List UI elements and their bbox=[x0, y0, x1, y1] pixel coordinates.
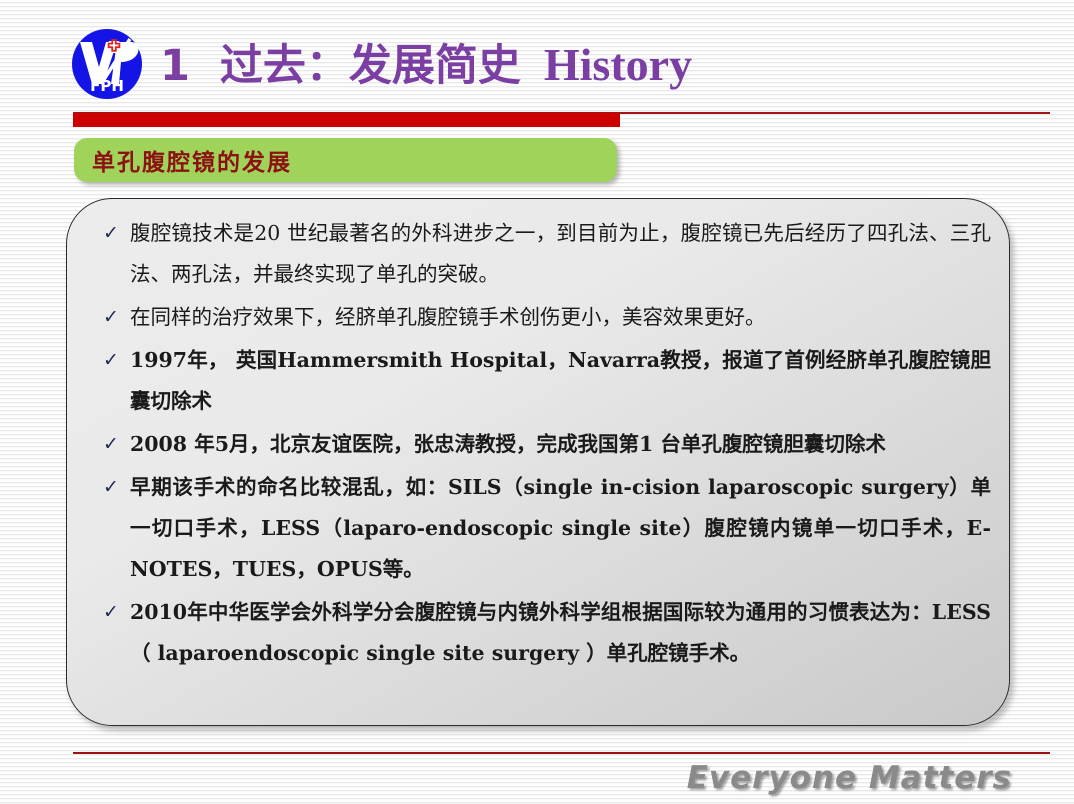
list-item: ✓ 腹腔镜技术是20 世纪最著名的外科进步之一，到目前为止，腹腔镜已先后经历了四… bbox=[100, 213, 991, 295]
list-item: ✓ 2010年中华医学会外科学分会腹腔镜与内镜外科学组根据国际较为通用的习惯表达… bbox=[100, 592, 991, 674]
check-icon: ✓ bbox=[100, 297, 130, 338]
check-icon: ✓ bbox=[100, 213, 130, 254]
list-item-text: 2008 年5月，北京友谊医院，张忠涛教授，完成我国第1 台单孔腹腔镜胆囊切除术 bbox=[130, 424, 991, 465]
slide-canvas: FPH 1 过去：发展简史 History 单孔腹腔镜的发展 ✓ 腹腔镜技术是2… bbox=[0, 0, 1074, 804]
list-item-text: 2010年中华医学会外科学分会腹腔镜与内镜外科学组根据国际较为通用的习惯表达为：… bbox=[130, 592, 991, 674]
section-banner: 单孔腹腔镜的发展 bbox=[74, 138, 617, 182]
list-item: ✓ 1997年， 英国Hammersmith Hospital，Navarra教… bbox=[100, 340, 991, 422]
list-item: ✓ 早期该手术的命名比较混乱，如：SILS（single in-cision l… bbox=[100, 467, 991, 590]
section-banner-label: 单孔腹腔镜的发展 bbox=[92, 143, 292, 177]
list-item-text: 早期该手术的命名比较混乱，如：SILS（single in-cision lap… bbox=[130, 467, 991, 590]
footer-tagline: Everyone Matters bbox=[687, 760, 1012, 796]
fph-logo: FPH bbox=[68, 27, 146, 101]
list-item-text: 腹腔镜技术是20 世纪最著名的外科进步之一，到目前为止，腹腔镜已先后经历了四孔法… bbox=[130, 213, 991, 295]
list-item: ✓ 在同样的治疗效果下，经脐单孔腹腔镜手术创伤更小，美容效果更好。 bbox=[100, 297, 991, 338]
check-icon: ✓ bbox=[100, 467, 130, 508]
check-icon: ✓ bbox=[100, 424, 130, 465]
list-item-text: 1997年， 英国Hammersmith Hospital，Navarra教授，… bbox=[130, 340, 991, 422]
check-icon: ✓ bbox=[100, 340, 130, 381]
content-panel: ✓ 腹腔镜技术是20 世纪最著名的外科进步之一，到目前为止，腹腔镜已先后经历了四… bbox=[66, 198, 1010, 726]
title-chinese: 过去：发展简史 bbox=[220, 41, 521, 91]
footer-divider bbox=[73, 752, 1050, 754]
check-icon: ✓ bbox=[100, 592, 130, 633]
title-underline-thick bbox=[73, 113, 620, 127]
bullet-list: ✓ 腹腔镜技术是20 世纪最著名的外科进步之一，到目前为止，腹腔镜已先后经历了四… bbox=[100, 213, 991, 676]
list-item: ✓ 2008 年5月，北京友谊医院，张忠涛教授，完成我国第1 台单孔腹腔镜胆囊切… bbox=[100, 424, 991, 465]
svg-text:FPH: FPH bbox=[90, 77, 124, 95]
page-title: 1 过去：发展简史 History bbox=[160, 32, 692, 98]
title-number: 1 bbox=[160, 41, 190, 91]
list-item-text: 在同样的治疗效果下，经脐单孔腹腔镜手术创伤更小，美容效果更好。 bbox=[130, 297, 991, 338]
title-english: History bbox=[544, 39, 692, 90]
